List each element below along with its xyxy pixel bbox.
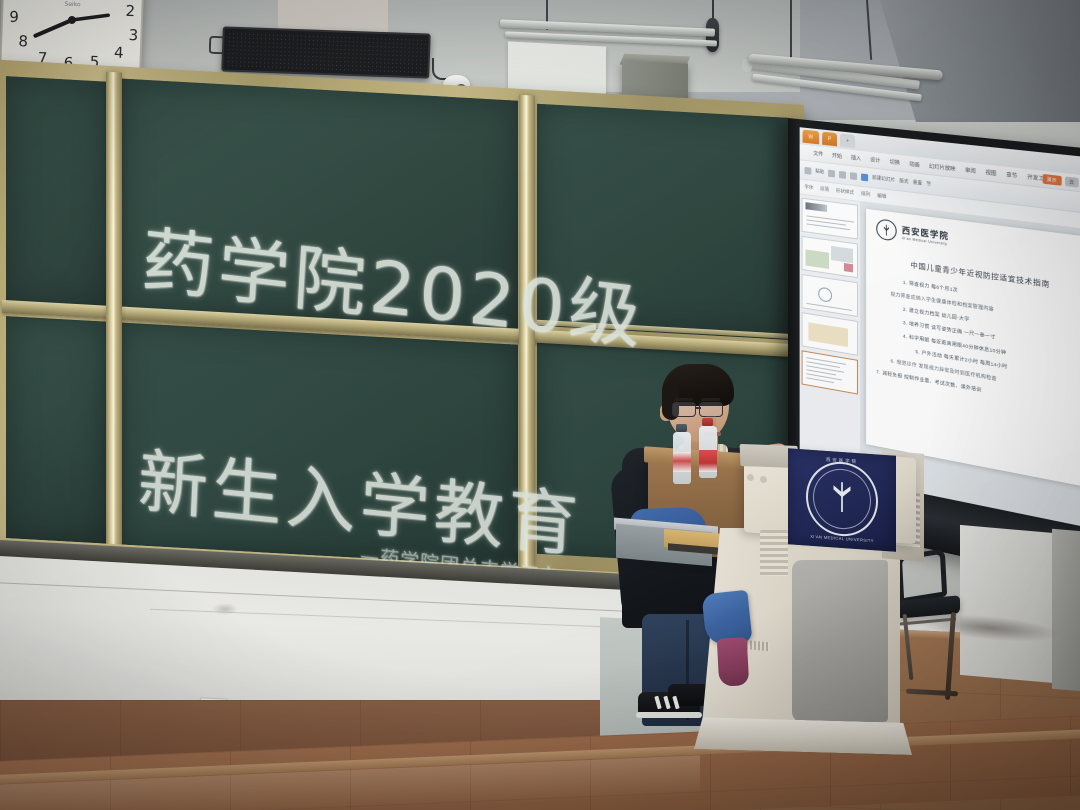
glasses-icon [672,402,696,417]
menu-item-transition[interactable]: 切换 [890,158,900,166]
thumbnail-image [808,322,848,347]
svg-text:4: 4 [114,43,124,61]
presenter-eyebrow [674,398,693,401]
wall-smudge [212,603,238,615]
svg-text:8: 8 [18,32,28,50]
app-tab-writer[interactable]: W [803,130,819,145]
ribbon-paste-label[interactable]: 粘贴 [815,168,824,175]
slide-thumbnail[interactable] [802,236,858,278]
slide-bullet-list: 1. 筛查视力 每6个月1次 视力筛查应纳入学生健康体检和档案管理内容 2. 建… [876,276,1080,412]
menu-item-design[interactable]: 设计 [870,156,880,164]
blackboard-panel-left-bottom [6,316,106,544]
paste-icon[interactable] [805,166,812,174]
led-display-strip [221,26,430,78]
format-font-label[interactable]: 字体 [805,184,814,191]
menu-item-file[interactable]: 文件 [813,150,823,158]
bottle-label [673,452,691,472]
format-paragraph-label[interactable]: 段落 [820,186,829,193]
ribbon-reset-label[interactable]: 重置 [913,179,922,186]
ribbon-newslide-label[interactable]: 新建幻灯片 [872,175,895,184]
thumbnail-accent [844,263,853,272]
svg-text:9: 9 [9,8,19,26]
clock-brand: Seiko [64,1,81,9]
right-wall-edge [1052,529,1080,692]
pink-cloth [717,637,749,687]
menu-item-slideshow[interactable]: 幻灯片放映 [929,163,955,173]
app-tab-presentation[interactable]: P [822,132,837,147]
present-button[interactable]: 演示 [1042,174,1061,186]
format-painter-icon[interactable] [850,172,857,180]
bottle-cap-icon [676,424,687,432]
svg-text:3: 3 [128,26,138,44]
ribbon-layout-label[interactable]: 版式 [899,178,908,185]
blackboard-panel-left-top [6,76,106,310]
podium-vent-icon [760,530,788,576]
thumbnail-image [805,249,829,268]
podium-button-icon[interactable] [747,474,754,481]
led-dot-matrix [226,32,425,74]
university-seal-icon [876,218,896,241]
format-shape-label[interactable]: 形状样式 [836,188,854,196]
app-tab-add[interactable]: + [840,133,855,148]
blackboard-mullion [106,72,122,559]
slide-thumbnail-selected[interactable] [802,350,858,394]
bottle-cap-icon [702,418,713,426]
format-arrange-label[interactable]: 排列 [861,191,870,198]
cut-icon[interactable] [828,169,835,177]
svg-text:2: 2 [125,2,135,20]
podium-base [694,717,912,755]
cloud-button[interactable]: 云 [1065,176,1079,187]
menu-item-section[interactable]: 章节 [1006,171,1017,180]
presenter-eyebrow [701,398,720,401]
slide-thumbnail-panel[interactable] [800,194,861,486]
menu-item-review[interactable]: 审阅 [965,166,976,175]
bottle-label [699,450,717,472]
menu-item-insert[interactable]: 插入 [851,154,861,162]
thumbnail-logo [805,202,827,212]
menu-item-view[interactable]: 视图 [986,169,997,178]
menu-item-home[interactable]: 开始 [832,152,842,160]
menu-item-animation[interactable]: 动画 [909,160,919,168]
current-slide[interactable]: 西安医学院 Xi'an Medical University 中国儿童青少年近视… [866,209,1080,490]
shoe-sole [636,712,702,718]
thumbnail-ring [818,287,832,303]
podium-side-panel [792,560,888,722]
new-slide-icon[interactable] [861,173,868,181]
slide-thumbnail[interactable] [802,274,858,317]
microphone-cord [712,0,714,20]
glasses-icon [699,402,723,417]
glasses-bridge [696,407,701,409]
podium-button-icon[interactable] [760,476,767,483]
copy-icon[interactable] [839,170,846,178]
classroom-photo-scene: 12 1 2 3 4 5 6 7 8 9 10 11 Seiko [0,0,1080,810]
slide-thumbnail[interactable] [802,312,858,356]
format-edit-label[interactable]: 编辑 [877,193,886,200]
ribbon-section-label[interactable]: 节 [926,181,931,188]
slide-thumbnail[interactable] [802,198,858,240]
